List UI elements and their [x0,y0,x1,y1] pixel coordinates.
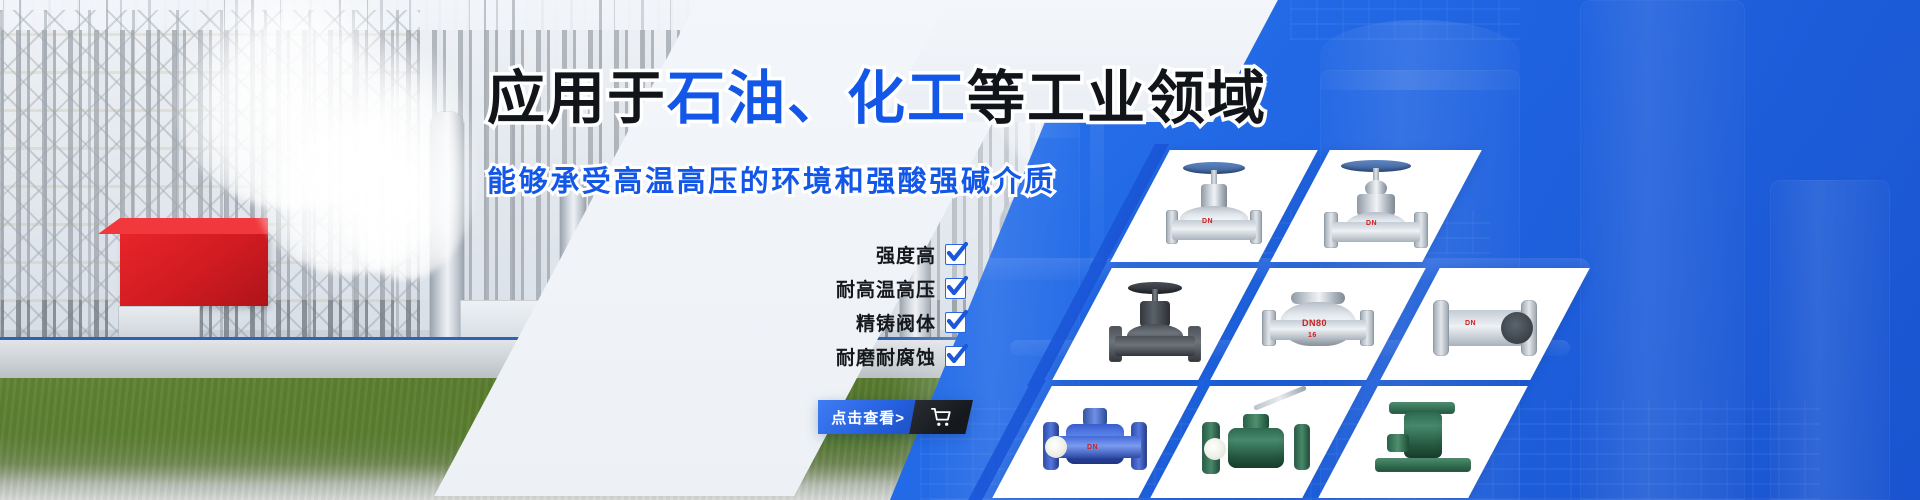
checkbox-checked-icon[interactable] [945,346,966,367]
promo-banner: DN DN [0,0,1920,500]
forged-gate-valve-dark-icon [1082,268,1228,380]
valve-art [1091,276,1219,372]
feature-item[interactable]: 耐磨耐腐蚀 [836,343,966,370]
valve-gear-housing [1387,434,1409,452]
feature-label: 耐磨耐腐蚀 [836,343,936,370]
cta-button[interactable]: 点击查看> [818,400,973,434]
swing-check-valve-icon: DN80 16 [1240,268,1396,380]
feature-item[interactable]: 强度高 [876,241,966,268]
valve-art [1192,394,1320,490]
valve-marking: DN [1202,218,1213,225]
valve-art: DN80 16 [1254,276,1382,372]
base-flange [1375,458,1471,472]
valve-marking: DN [1087,444,1098,451]
feature-item[interactable]: 精铸阀体 [856,309,966,336]
cta-label[interactable]: 点击查看> [818,400,918,434]
feature-label: 精铸阀体 [856,309,936,336]
valve-flange [1433,300,1449,356]
valve-marking: DN80 [1302,318,1327,328]
valve-art: DN [1150,158,1278,254]
checkbox-checked-icon[interactable] [945,244,966,265]
globe-valve-flanged-icon: DN [1300,150,1452,262]
valve-art: DN [1031,394,1159,490]
shopping-cart-icon [930,406,953,429]
ptfe-lining [1045,436,1067,458]
valve-marking: DN [1366,220,1377,227]
valve-pressure-marking: 16 [1308,332,1317,339]
ptfe-lining [1204,438,1226,460]
valve-art: DN [1421,276,1549,372]
valve-bore [1501,312,1533,344]
feature-item[interactable]: 耐高温高压 [836,275,966,302]
valve-body [1228,428,1284,468]
valve-body [1404,412,1442,458]
checkbox-checked-icon[interactable] [945,312,966,333]
gate-valve-handwheel-icon: DN [1140,150,1288,262]
lined-ball-valve-blue-icon: DN [1022,386,1168,498]
wafer-check-valve-icon: DN [1410,268,1560,380]
valve-run-pipe [1172,220,1256,240]
valve-art: DN [1312,158,1440,254]
valve-marking: DN [1465,320,1476,327]
feature-label: 强度高 [876,241,936,268]
lever-ball-valve-green-icon [1180,386,1332,498]
checkbox-checked-icon[interactable] [945,278,966,299]
feature-label: 耐高温高压 [836,275,936,302]
valve-flange [1294,424,1310,470]
valve-lever-handle [1253,386,1307,411]
valve-art [1359,394,1487,490]
flanged-plug-valve-green-icon [1348,386,1498,498]
cta-cart-button[interactable] [909,400,973,434]
valve-run-pipe [1115,336,1195,356]
